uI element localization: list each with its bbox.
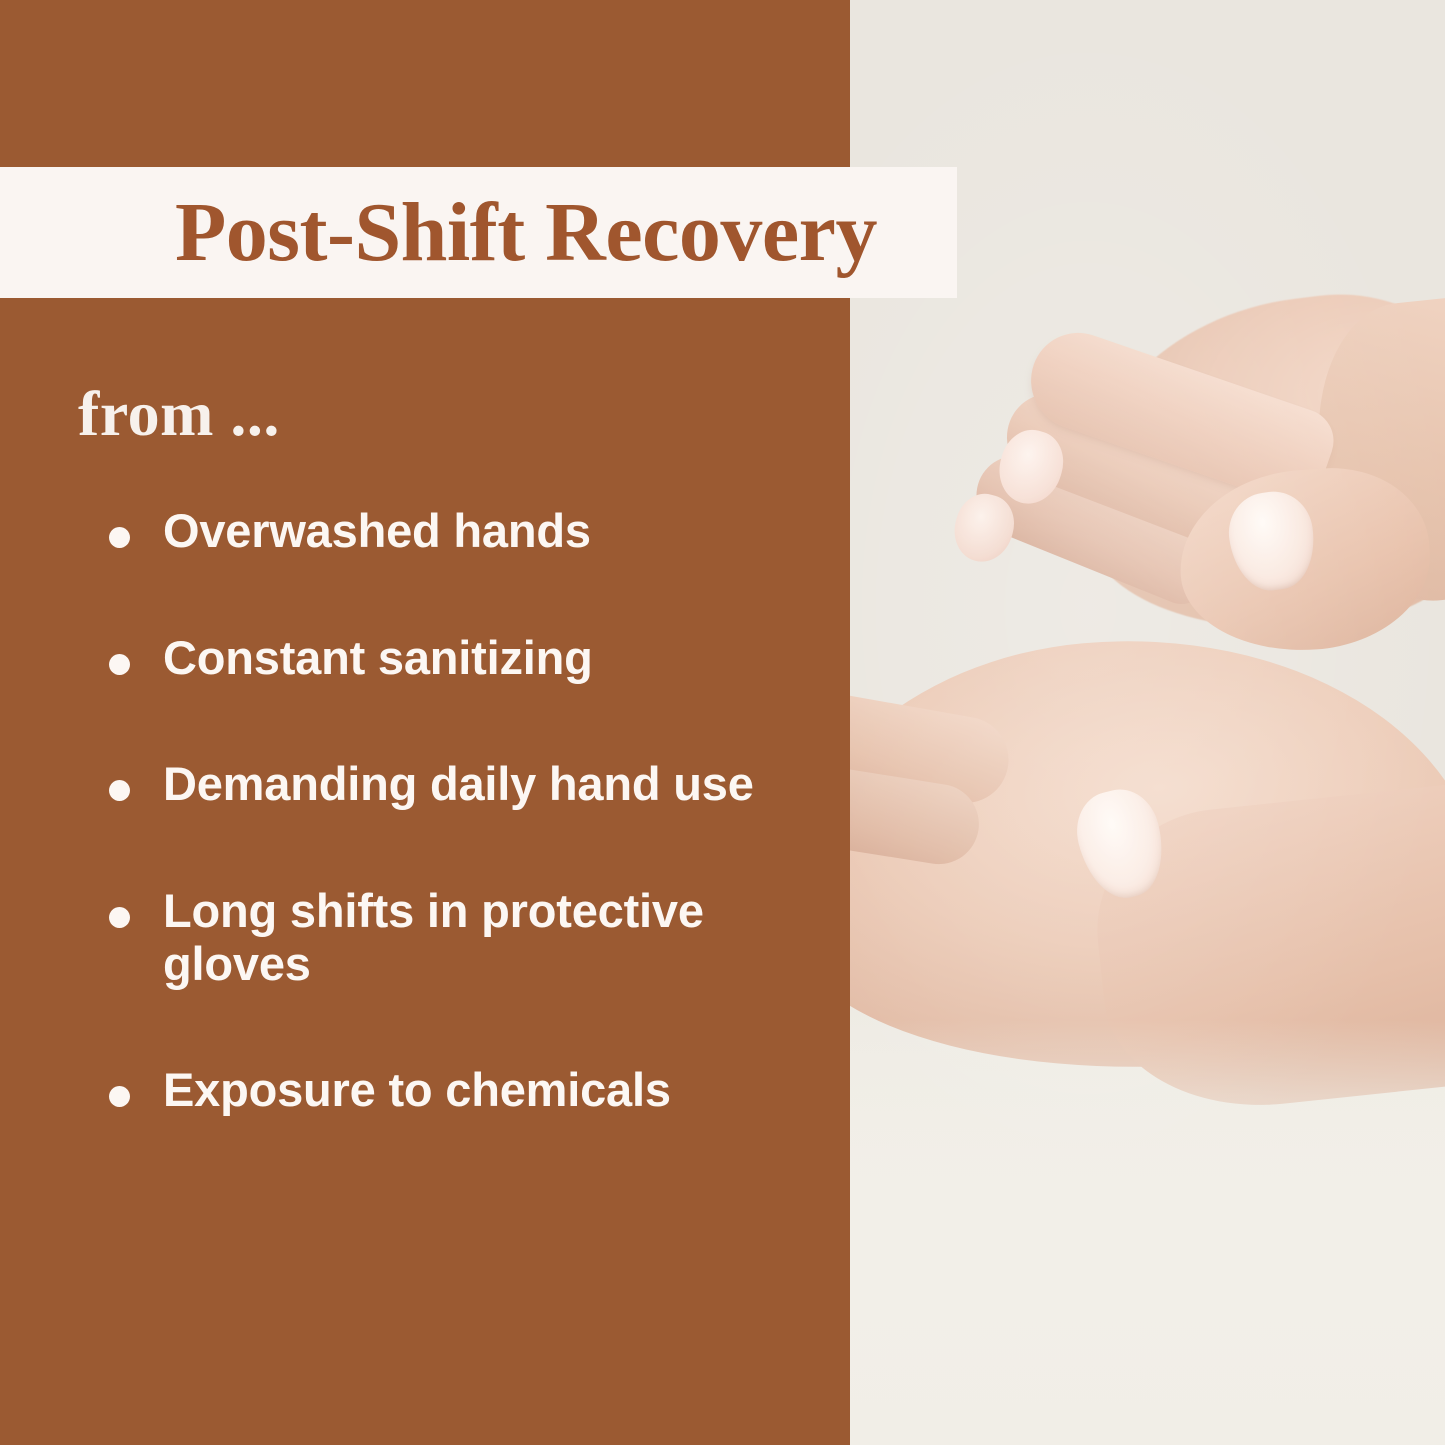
list-item: Exposure to chemicals: [100, 1064, 760, 1117]
bullet-dot-icon: [109, 907, 130, 928]
list-item-label: Constant sanitizing: [163, 631, 593, 684]
bullet-dot-icon: [109, 654, 130, 675]
list-item: Long shifts in protective gloves: [100, 885, 760, 990]
photo-bottom-fade: [850, 1020, 1445, 1445]
list-item-label: Overwashed hands: [163, 504, 591, 557]
list-item-label: Demanding daily hand use: [163, 757, 754, 810]
benefit-list: Overwashed hands Constant sanitizing Dem…: [100, 505, 760, 1117]
title-banner: Post-Shift Recovery: [0, 167, 957, 298]
bullet-dot-icon: [109, 780, 130, 801]
bullet-dot-icon: [109, 1086, 130, 1107]
list-item: Constant sanitizing: [100, 632, 760, 685]
list-item-label: Long shifts in protective gloves: [163, 884, 704, 990]
list-item: Demanding daily hand use: [100, 758, 760, 811]
product-infographic: Post-Shift Recovery from ... Overwashed …: [0, 0, 1445, 1445]
list-item: Overwashed hands: [100, 505, 760, 558]
list-item-label: Exposure to chemicals: [163, 1063, 671, 1116]
bullet-dot-icon: [109, 527, 130, 548]
page-title: Post-Shift Recovery: [175, 191, 877, 275]
lead-in-text: from ...: [78, 382, 280, 446]
